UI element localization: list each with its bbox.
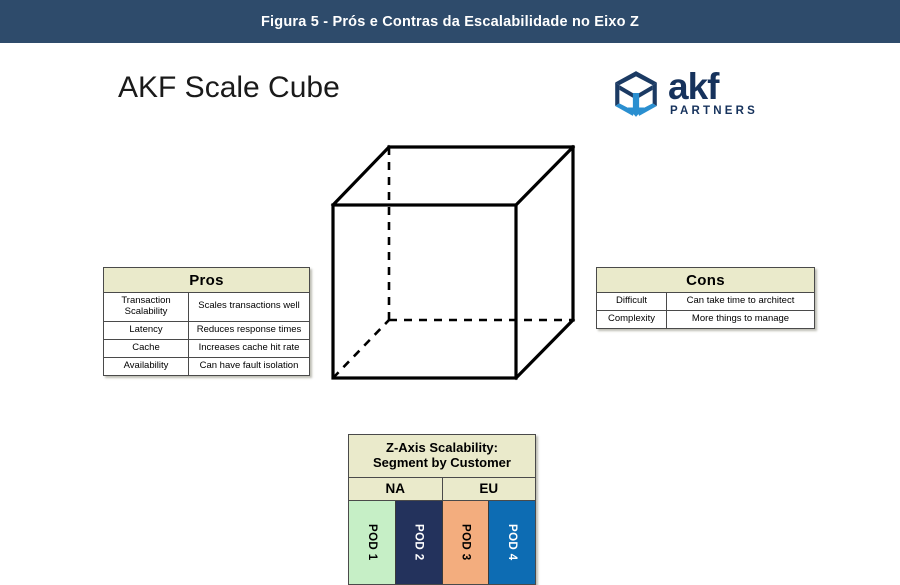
scale-cube-svg (320, 138, 590, 393)
akf-partners-logo: akf PARTNERS (610, 63, 770, 125)
table-row: Transaction Scalability Scales transacti… (104, 293, 310, 322)
pod-label: POD 3 (459, 524, 471, 561)
cons-row-value: More things to manage (667, 310, 815, 328)
scale-cube-diagram (320, 138, 590, 393)
zaxis-title: Z-Axis Scalability: Segment by Customer (349, 435, 535, 478)
akf-tagline: PARTNERS (670, 106, 758, 118)
cons-table: Cons Difficult Can take time to architec… (596, 267, 815, 329)
table-row: Complexity More things to manage (597, 310, 815, 328)
akf-wordmark: akf (668, 70, 718, 104)
pros-table: Pros Transaction Scalability Scales tran… (103, 267, 310, 376)
cons-row-key: Complexity (597, 310, 667, 328)
cons-row-value: Can take time to architect (667, 293, 815, 311)
cons-table-title: Cons (597, 268, 815, 293)
pod-cell-2: POD 2 (395, 501, 442, 584)
table-row: Latency Reduces response times (104, 321, 310, 339)
pod-cell-3: POD 3 (442, 501, 489, 584)
pros-row-value: Increases cache hit rate (189, 339, 310, 357)
pros-row-key: Latency (104, 321, 189, 339)
pros-table-title: Pros (104, 268, 310, 293)
table-row: Availability Can have fault isolation (104, 357, 310, 375)
pros-row-value: Scales transactions well (189, 293, 310, 322)
zaxis-pod-row: POD 1 POD 2 POD 3 POD 4 (349, 501, 535, 584)
zaxis-region-eu: EU (442, 478, 536, 500)
pod-cell-4: POD 4 (488, 501, 535, 584)
table-row: Difficult Can take time to architect (597, 293, 815, 311)
zaxis-region-na: NA (349, 478, 442, 500)
zaxis-region-row: NA EU (349, 478, 535, 501)
pod-cell-1: POD 1 (349, 501, 395, 584)
pros-row-value: Reduces response times (189, 321, 310, 339)
pros-row-key: Availability (104, 357, 189, 375)
slide-canvas: AKF Scale Cube akf PARTNERS (0, 43, 900, 548)
pod-label: POD 4 (506, 524, 518, 561)
pod-label: POD 2 (413, 524, 425, 561)
pod-label: POD 1 (366, 524, 378, 561)
akf-logo-wordmark-group: akf PARTNERS (668, 70, 758, 118)
pros-row-key: Cache (104, 339, 189, 357)
zaxis-scalability-block: Z-Axis Scalability: Segment by Customer … (348, 434, 536, 585)
figure-caption-banner: Figura 5 - Prós e Contras da Escalabilid… (0, 0, 900, 43)
akf-cube-logo-icon (610, 68, 662, 120)
table-row: Cache Increases cache hit rate (104, 339, 310, 357)
pros-row-key: Transaction Scalability (104, 293, 189, 322)
cons-row-key: Difficult (597, 293, 667, 311)
pros-row-value: Can have fault isolation (189, 357, 310, 375)
figure-caption-text: Figura 5 - Prós e Contras da Escalabilid… (261, 14, 639, 30)
page-title: AKF Scale Cube (118, 71, 340, 105)
